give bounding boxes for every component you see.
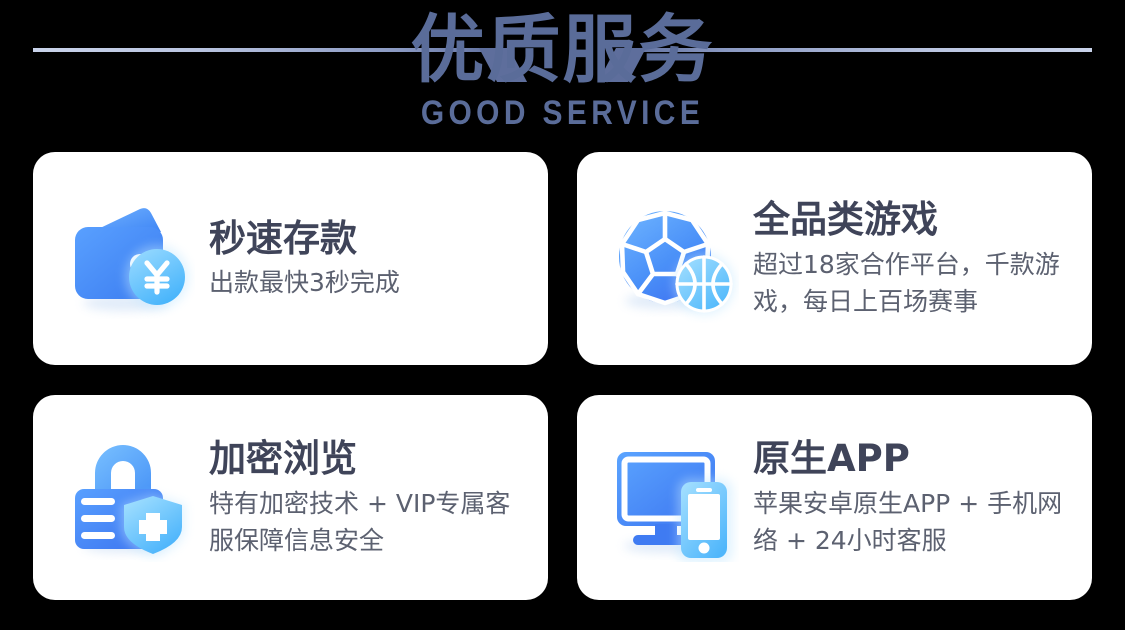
- page-root: 优质服务 GOOD SERVICE: [0, 0, 1125, 630]
- feature-card-title: 原生APP: [753, 436, 1078, 481]
- header-title-block: 优质服务 GOOD SERVICE: [0, 0, 1125, 132]
- feature-card-subtitle: 超过18家合作平台，千款游戏，每日上百场赛事: [753, 246, 1078, 320]
- feature-card-games[interactable]: 全品类游戏 超过18家合作平台，千款游戏，每日上百场赛事: [577, 152, 1092, 365]
- feature-card-subtitle: 出款最快3秒完成: [209, 265, 534, 301]
- monitor-phone-icon: [611, 434, 739, 562]
- feature-card-grid: 秒速存款 出款最快3秒完成: [33, 152, 1092, 600]
- feature-card-text: 加密浏览 特有加密技术 + VIP专属客服保障信息安全: [209, 436, 548, 559]
- feature-card-subtitle: 苹果安卓原生APP + 手机网络 + 24小时客服: [753, 485, 1078, 559]
- feature-card-text: 全品类游戏 超过18家合作平台，千款游戏，每日上百场赛事: [753, 197, 1092, 320]
- lock-shield-icon: [67, 434, 195, 562]
- feature-card-title: 秒速存款: [209, 216, 534, 261]
- feature-card-native-app[interactable]: 原生APP 苹果安卓原生APP + 手机网络 + 24小时客服: [577, 395, 1092, 600]
- soccer-basketball-icon: [611, 195, 739, 323]
- page-header: 优质服务 GOOD SERVICE: [0, 0, 1125, 150]
- feature-card-text: 秒速存款 出款最快3秒完成: [209, 216, 548, 301]
- feature-card-title: 全品类游戏: [753, 197, 1078, 242]
- feature-card-encryption[interactable]: 加密浏览 特有加密技术 + VIP专属客服保障信息安全: [33, 395, 548, 600]
- feature-card-subtitle: 特有加密技术 + VIP专属客服保障信息安全: [209, 485, 534, 559]
- wallet-yen-icon: [67, 195, 195, 323]
- feature-card-deposit[interactable]: 秒速存款 出款最快3秒完成: [33, 152, 548, 365]
- feature-card-text: 原生APP 苹果安卓原生APP + 手机网络 + 24小时客服: [753, 436, 1092, 559]
- page-title: 优质服务: [0, 0, 1125, 92]
- feature-card-title: 加密浏览: [209, 436, 534, 481]
- page-subtitle: GOOD SERVICE: [68, 92, 1058, 132]
